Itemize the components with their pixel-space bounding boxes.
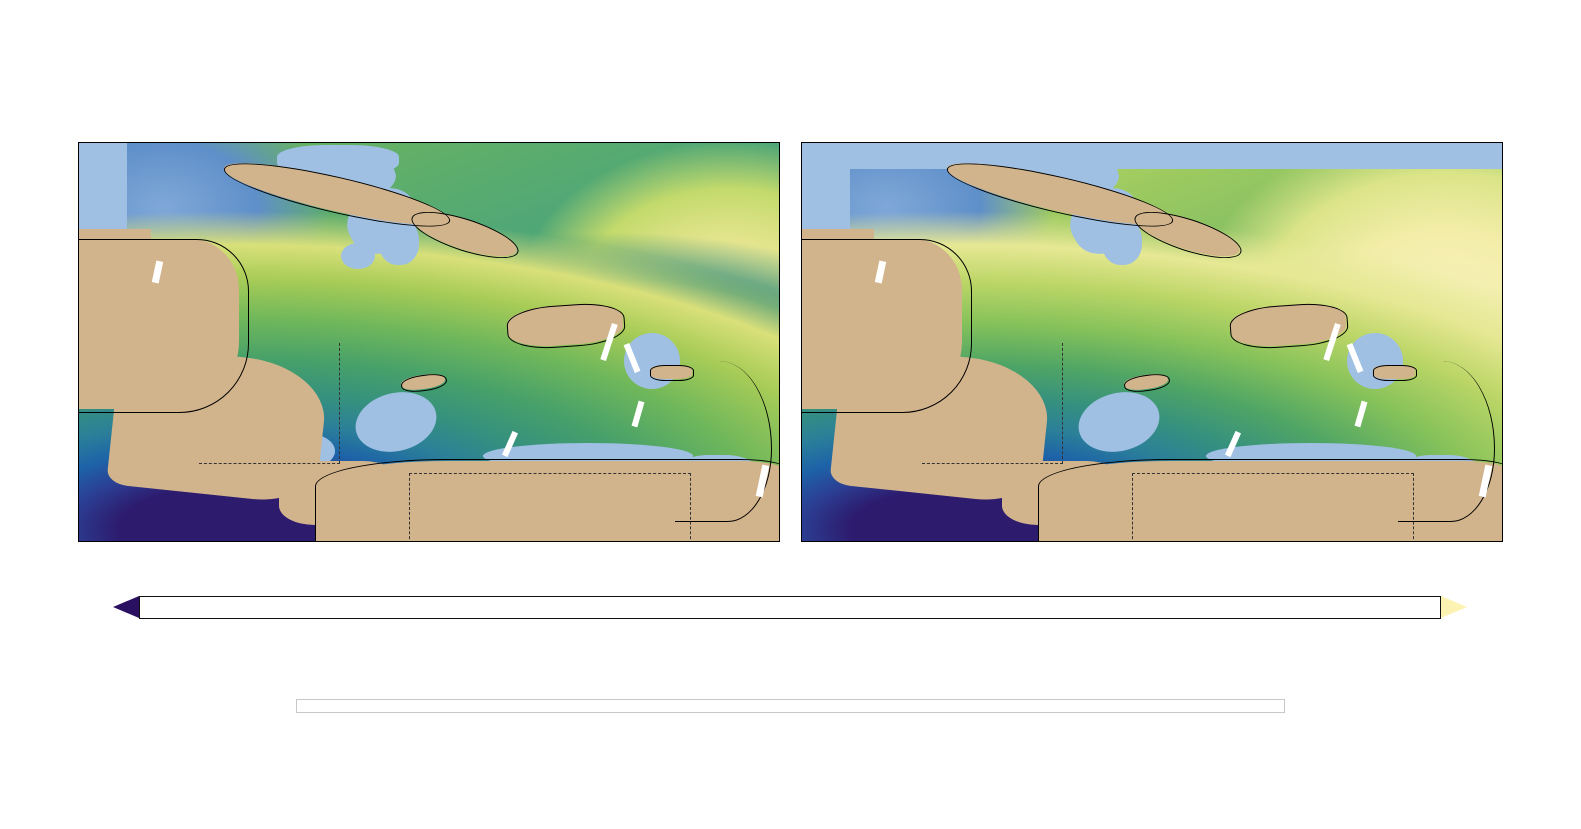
shelf-gulf xyxy=(79,143,127,239)
shelf-gulf xyxy=(802,143,1503,169)
shelf-gulf-2 xyxy=(802,143,850,239)
border-dashed-central-america xyxy=(922,343,1063,464)
map-panel-rtofs[interactable] xyxy=(78,142,780,542)
border-dashed-south-america xyxy=(1132,473,1414,542)
colorbar-gradient xyxy=(139,596,1441,619)
colorbar-arrow-max xyxy=(1441,596,1467,618)
colorbar xyxy=(113,596,1467,619)
border-dashed-south-america xyxy=(409,473,691,542)
legend-box[interactable] xyxy=(296,699,1285,713)
colorbar-arrow-min xyxy=(113,596,139,618)
border-dashed-central-america xyxy=(199,343,340,464)
shelf-bank xyxy=(341,243,375,269)
map-panel-cmems[interactable] xyxy=(801,142,1503,542)
